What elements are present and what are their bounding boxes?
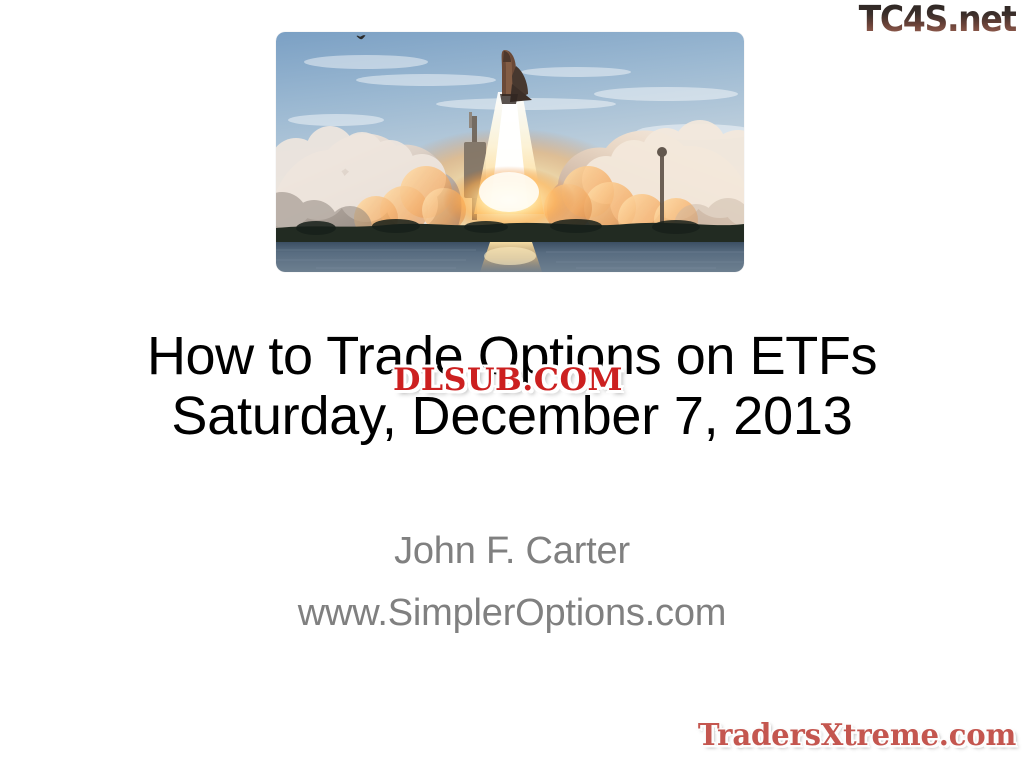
watermark-tradersxtreme: TradersXtreme.com xyxy=(698,718,1016,754)
subtitle: John F. Carter www.SimplerOptions.com xyxy=(0,520,1024,644)
shuttle-launch-illustration xyxy=(276,32,744,272)
watermark-tc4s: TC4S.net xyxy=(859,0,1016,40)
space-shuttle-launch-image xyxy=(276,32,744,272)
presenter-website[interactable]: www.SimplerOptions.com xyxy=(0,582,1024,644)
presenter-name: John F. Carter xyxy=(0,520,1024,582)
presentation-slide: How to Trade Options on ETFs Saturday, D… xyxy=(0,0,1024,768)
watermark-dlsub: DLSUB.COM xyxy=(365,360,651,400)
